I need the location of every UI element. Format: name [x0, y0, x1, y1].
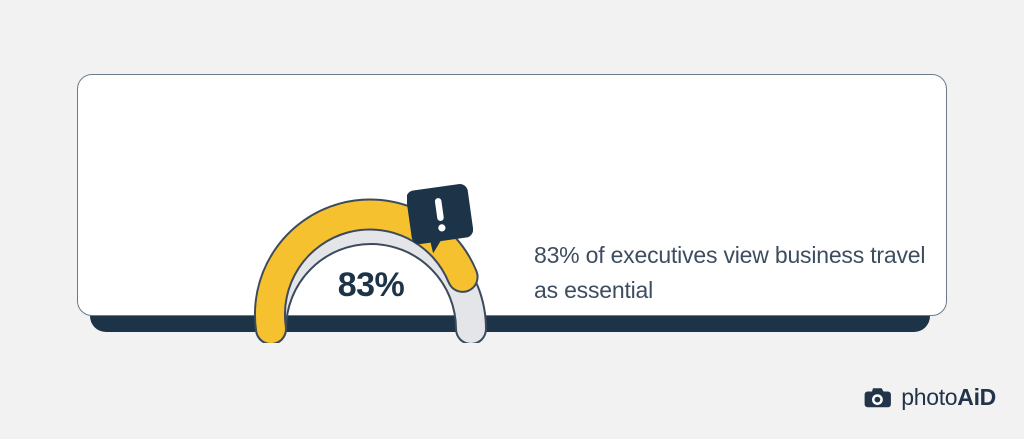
exclamation-bubble-icon [407, 183, 473, 255]
brand-wordmark-bold: AiD [957, 384, 996, 410]
brand-wordmark-light: photo [901, 384, 957, 410]
camera-icon [864, 386, 892, 410]
stat-card: 83% 83% of executives view business trav… [77, 74, 947, 316]
brand-logo: photoAiD [864, 384, 996, 411]
brand-wordmark: photoAiD [901, 384, 996, 411]
headline-text: 83% of executives view business travel a… [534, 238, 954, 308]
